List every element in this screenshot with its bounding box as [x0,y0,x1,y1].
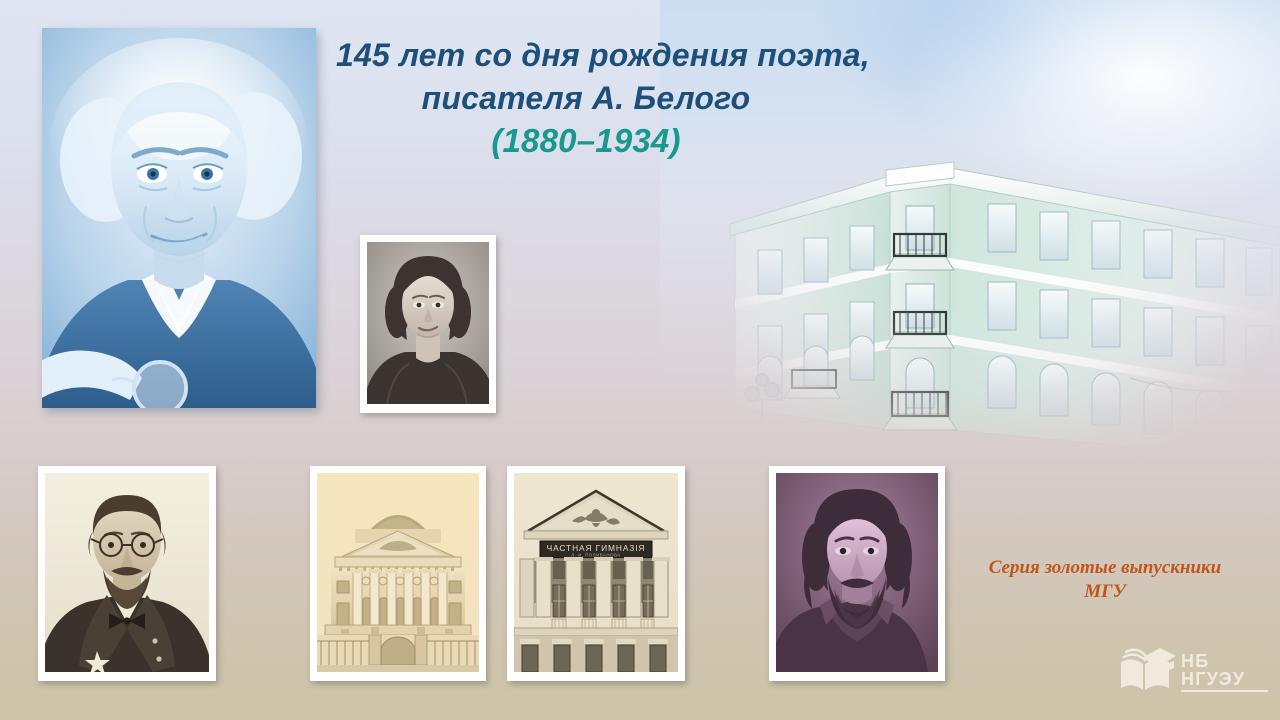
series-caption: Серия золотые выпускники МГУ [955,556,1255,604]
title-line-years: (1880–1934) [336,119,836,163]
logo-text: НБ НГУЭУ [1181,652,1268,692]
corner-building-illustration [700,78,1280,478]
photo-polivanov-gymnasium-building: ЧАСТНАЯ ГИМНАЗIЯ Л. И. ПОЛИВАНОВА [507,466,685,681]
presentation-slide: ЧАСТНАЯ ГИМНАЗIЯ Л. И. ПОЛИВАНОВА [0,0,1280,720]
photo-portrait-woman [360,235,496,413]
title-line-2: писателя А. Белого [336,77,836,120]
photo-inner [45,473,209,672]
photo-portrait-longhair-bearded-man [769,466,945,681]
nb-nsuem-logo: НБ НГУЭУ [1118,628,1268,696]
gymnasium-sign-main: ЧАСТНАЯ ГИМНАЗIЯ [547,543,646,553]
photo-inner [42,28,316,408]
photo-portrait-bearded-man-glasses [38,466,216,681]
title-line-1: 145 лет со дня рождения поэта, [336,34,836,77]
photo-inner [776,473,938,672]
gymnasium-sign-sub: Л. И. ПОЛИВАНОВА [571,553,620,558]
photo-inner: ЧАСТНАЯ ГИМНАЗIЯ Л. И. ПОЛИВАНОВА [514,473,678,672]
photo-portrait-andrei-bely [42,28,316,408]
photo-inner [317,473,479,672]
sky-background-wash [660,0,1280,430]
series-caption-line-2: МГУ [955,580,1255,604]
series-caption-line-1: Серия золотые выпускники [955,556,1255,580]
photo-moscow-university-building [310,466,486,681]
slide-title: 145 лет со дня рождения поэта, писателя … [336,34,836,163]
book-graduation-cap-icon [1118,644,1176,696]
photo-inner [367,242,489,404]
